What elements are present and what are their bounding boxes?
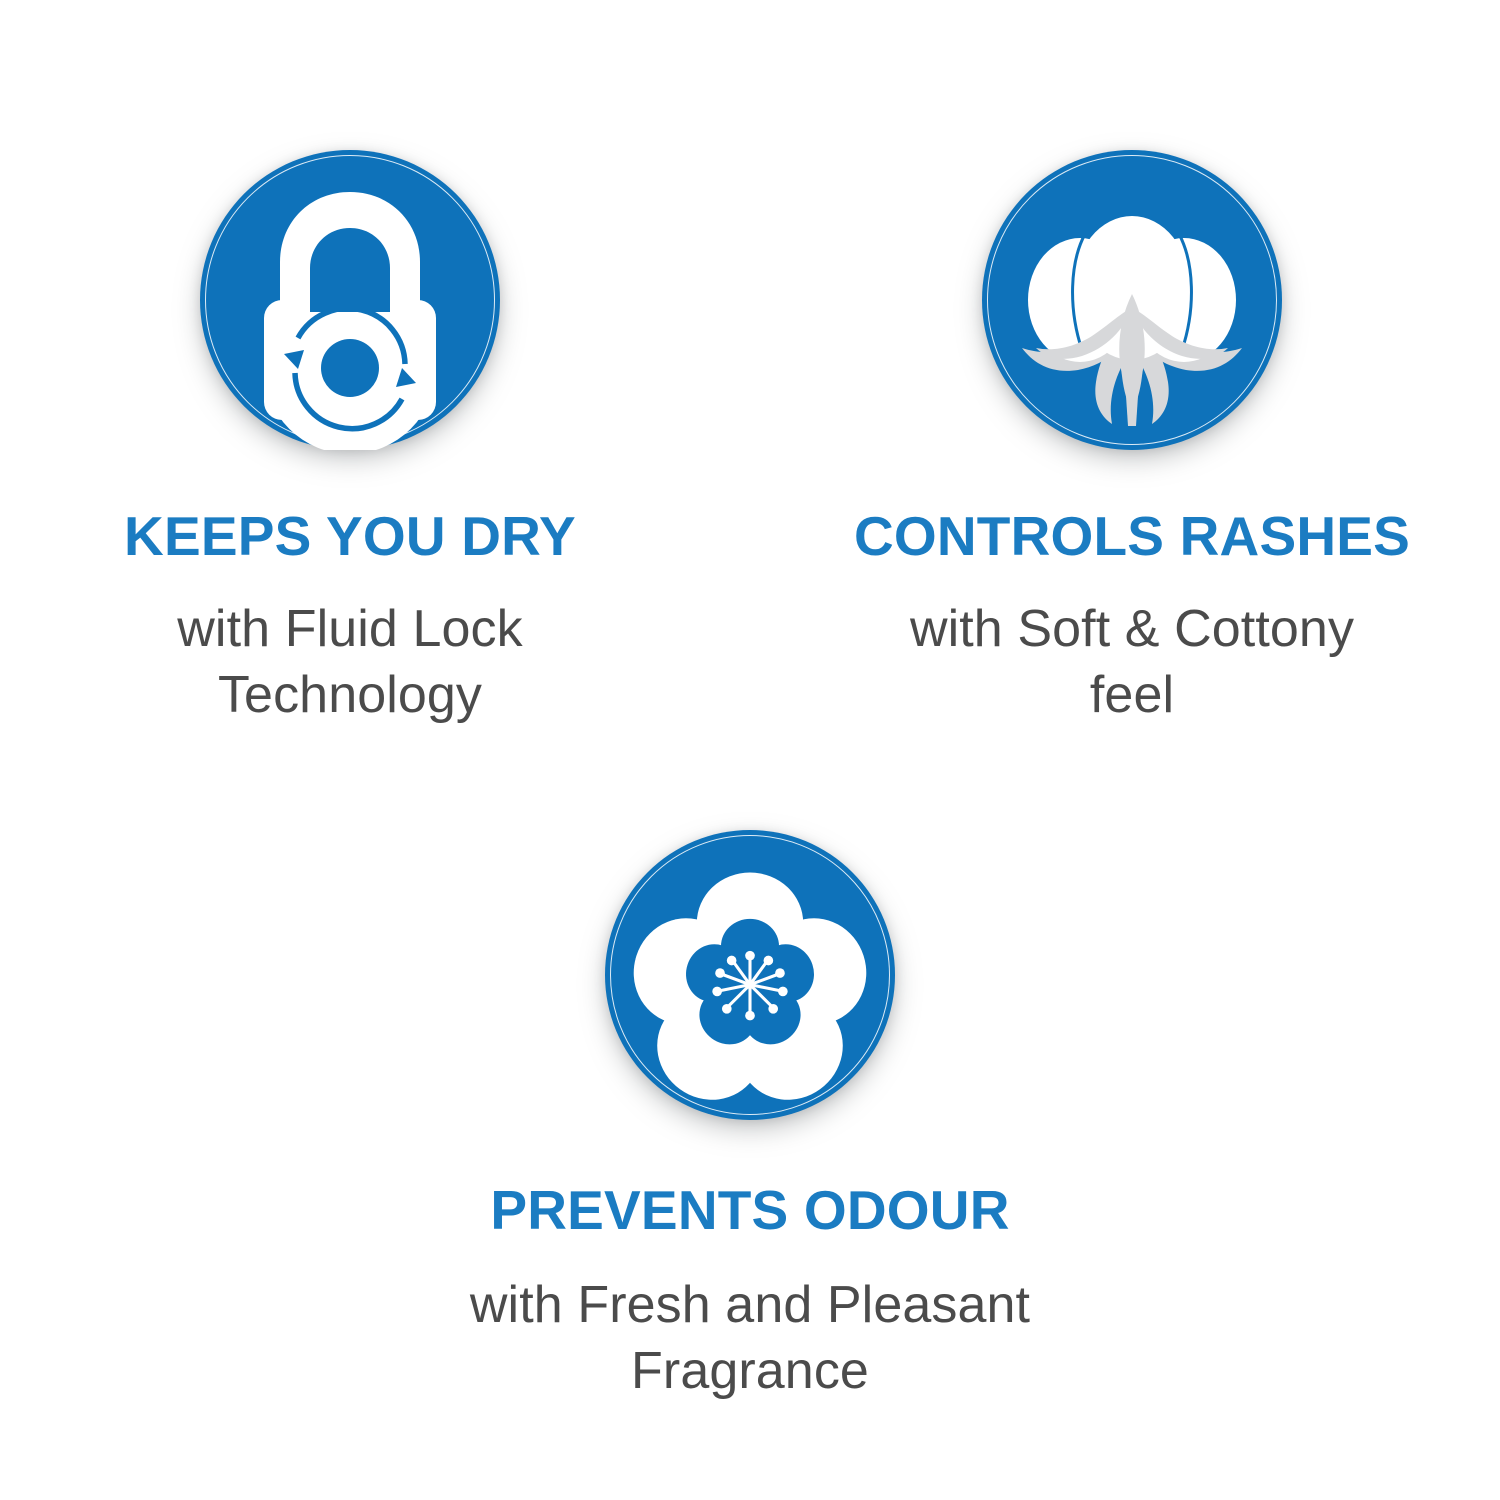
feature-panel-controls-rashes: CONTROLS RASHES with Soft & Cottony feel (792, 150, 1472, 729)
feature-subline: with Fresh and Pleasant Fragrance (430, 1272, 1070, 1405)
flower-blossom-badge (605, 830, 895, 1120)
padlock-refresh-badge (200, 150, 500, 450)
feature-headline: PREVENTS ODOUR (490, 1182, 1009, 1240)
product-benefits-infographic: KEEPS YOU DRY with Fluid Lock Technology (0, 0, 1500, 1500)
cotton-boll-icon (982, 150, 1282, 450)
feature-panel-keeps-you-dry: KEEPS YOU DRY with Fluid Lock Technology (10, 150, 690, 729)
feature-panel-prevents-odour: PREVENTS ODOUR with Fresh and Pleasant F… (360, 830, 1140, 1405)
cotton-boll-badge (982, 150, 1282, 450)
feature-subline: with Fluid Lock Technology (115, 596, 585, 729)
feature-subline: with Soft & Cottony feel (897, 596, 1367, 729)
flower-blossom-icon (605, 830, 895, 1120)
feature-headline: KEEPS YOU DRY (124, 508, 576, 566)
feature-headline: CONTROLS RASHES (854, 508, 1410, 566)
padlock-refresh-icon (200, 150, 500, 450)
